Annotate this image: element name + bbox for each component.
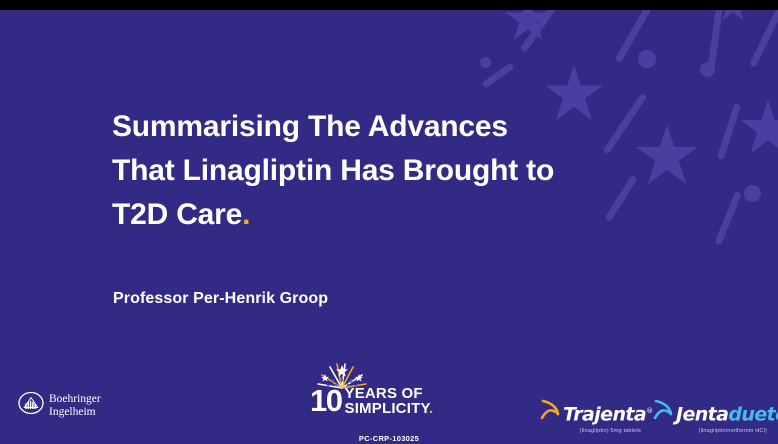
decor-streak-icon (707, 10, 726, 70)
jentadueto-name-part-2: dueto (728, 403, 778, 425)
title-line-3: T2D Care. (112, 193, 632, 237)
decor-dot-icon (638, 50, 656, 68)
ten-years-number: 10 (310, 386, 341, 415)
ten-years-words: YEARS OF SIMPLICITY. (344, 387, 433, 416)
decor-streak-icon (749, 10, 778, 68)
decor-dot-icon (744, 185, 761, 202)
jentadueto-lockup: Jentadueto® (653, 398, 771, 427)
boehringer-ingelheim-seal-icon (18, 391, 44, 420)
bi-wordmark-line-2: Ingelheim (49, 406, 101, 419)
ten-years-word-line-2-text: SIMPLICITY (344, 400, 429, 417)
decor-star-icon (716, 10, 750, 22)
letterbox-bar-top (0, 0, 778, 10)
boehringer-ingelheim-logo: Boehringer Ingelheim (18, 391, 101, 420)
title-line-2: That Linagliptin Has Brought to (112, 149, 632, 193)
decor-star-icon (740, 100, 778, 156)
material-code: PC-CRP-103025 (0, 434, 778, 443)
boehringer-ingelheim-wordmark: Boehringer Ingelheim (49, 393, 101, 418)
decor-star-icon (636, 125, 698, 187)
ten-years-word-line-2: SIMPLICITY. (344, 402, 433, 417)
trajenta-lockup: Trajenta® (540, 398, 645, 427)
presenter-name: Professor Per-Henrik Groop (113, 290, 328, 308)
slide-canvas: Summarising The Advances That Linaglipti… (0, 10, 778, 444)
jentadueto-name: Jentadueto® (676, 401, 778, 424)
ten-years-of-simplicity-logo: 10 YEARS OF SIMPLICITY. (310, 362, 460, 417)
ten-years-lockup: 10 YEARS OF SIMPLICITY. (310, 386, 433, 416)
trajenta-swoosh-icon (540, 398, 562, 427)
jentadueto-logo: Jentadueto® (linagliptin/metformin HCl) (653, 398, 771, 434)
bi-wordmark-line-1: Boehringer (49, 393, 101, 406)
ten-years-accent-period: . (429, 400, 433, 417)
trajenta-name: Trajenta® (563, 401, 653, 424)
page-title: Summarising The Advances That Linaglipti… (112, 105, 632, 237)
decor-streak-icon (520, 10, 573, 53)
trajenta-registered-mark: ® (646, 407, 652, 415)
decor-dot-icon (480, 57, 491, 68)
decor-star-icon (505, 10, 551, 42)
title-line-3-text: T2D Care (112, 198, 242, 231)
trajenta-logo: Trajenta® (linagliptin) 5mg tablets (540, 398, 645, 434)
decor-streak-icon (481, 62, 515, 88)
trajenta-name-text: Trajenta (563, 403, 646, 425)
decor-streak-icon (717, 103, 742, 160)
title-line-1: Summarising The Advances (112, 105, 632, 149)
jentadueto-subtext: (linagliptin/metformin HCl) (653, 428, 771, 434)
decor-dot-icon (700, 62, 715, 77)
jentadueto-swoosh-icon (653, 398, 675, 427)
presentation-slide: Summarising The Advances That Linaglipti… (0, 0, 778, 444)
trajenta-subtext: (linagliptin) 5mg tablets (540, 428, 645, 434)
title-accent-period: . (242, 198, 250, 231)
jentadueto-name-part-1: Jenta (676, 403, 728, 425)
decor-streak-icon (714, 191, 741, 246)
decor-streak-icon (614, 10, 659, 63)
